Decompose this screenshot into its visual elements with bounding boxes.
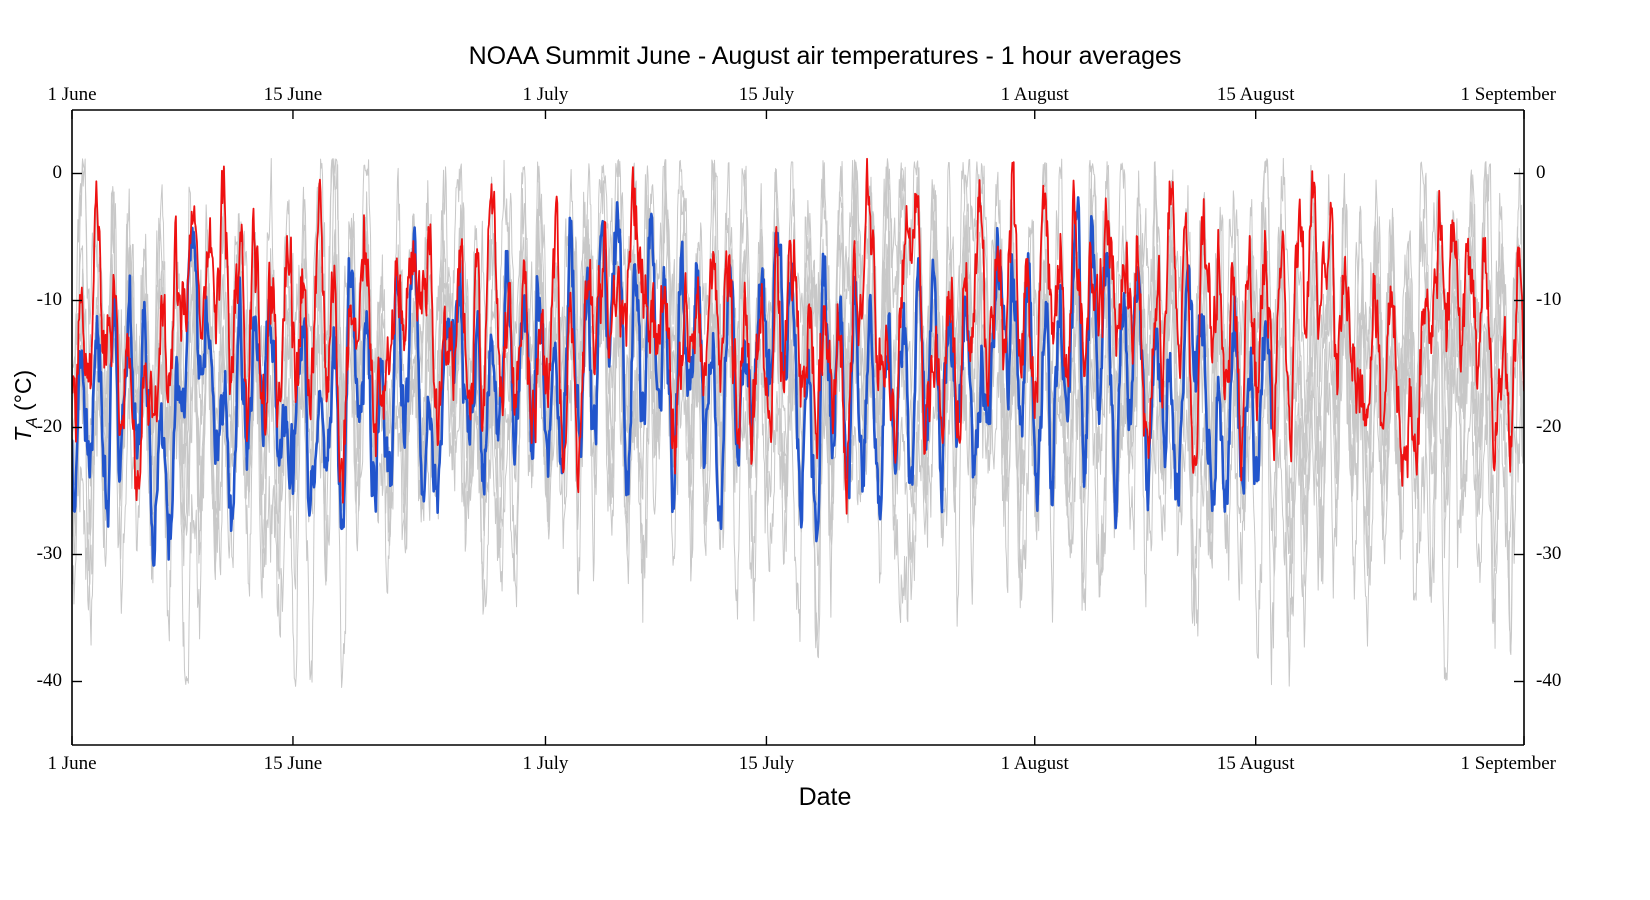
ytick-label-left-4: -40	[6, 670, 62, 692]
ytick-label-left-0: 0	[6, 162, 62, 184]
xtick-label-bottom-3: 15 July	[676, 753, 856, 775]
y-axis-title: TA (°C)	[10, 326, 42, 486]
ytick-label-left-2: -20	[6, 416, 62, 438]
xtick-label-top-1: 15 June	[203, 84, 383, 106]
xtick-label-bottom-0: 1 June	[0, 753, 162, 775]
x-axis-title: Date	[0, 783, 1650, 812]
chart-page: NOAA Summit June - August air temperatur…	[0, 0, 1650, 900]
ytick-label-left-3: -30	[6, 543, 62, 565]
xtick-label-top-3: 15 July	[676, 84, 856, 106]
ytick-label-right-0: 0	[1536, 162, 1592, 184]
ytick-label-right-4: -40	[1536, 670, 1592, 692]
xtick-label-top-0: 1 June	[0, 84, 162, 106]
xtick-label-bottom-5: 15 August	[1166, 753, 1346, 775]
xtick-label-bottom-6: 1 September	[1376, 753, 1556, 775]
y-axis-units: (°C)	[10, 370, 36, 411]
xtick-label-bottom-2: 1 July	[455, 753, 635, 775]
xtick-label-top-4: 1 August	[945, 84, 1125, 106]
xtick-label-top-6: 1 September	[1376, 84, 1556, 106]
series-layer	[72, 158, 1524, 687]
ytick-label-right-3: -30	[1536, 543, 1592, 565]
ytick-label-left-1: -10	[6, 289, 62, 311]
xtick-label-top-5: 15 August	[1166, 84, 1346, 106]
ytick-label-right-1: -10	[1536, 289, 1592, 311]
xtick-label-bottom-1: 15 June	[203, 753, 383, 775]
ytick-label-right-2: -20	[1536, 416, 1592, 438]
xtick-label-top-2: 1 July	[455, 84, 635, 106]
xtick-label-bottom-4: 1 August	[945, 753, 1125, 775]
